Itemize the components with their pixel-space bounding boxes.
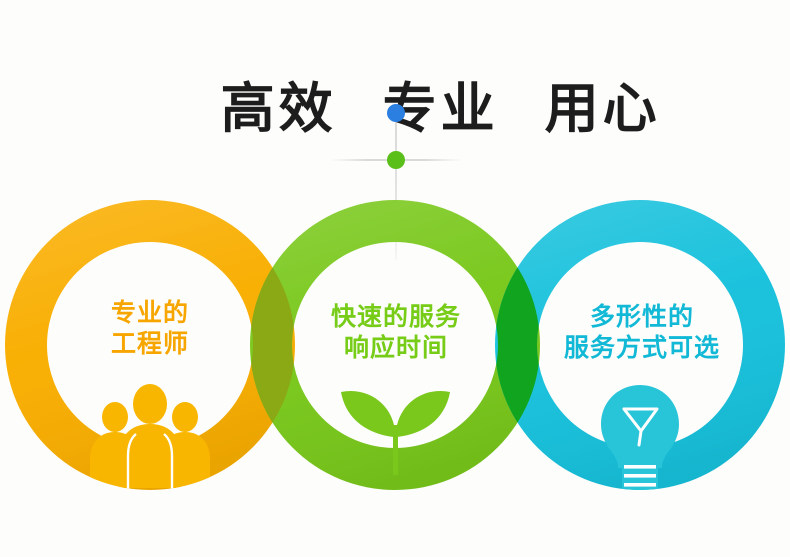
circle-label-service-modes: 多形性的 服务方式可选	[537, 302, 747, 363]
circle-label-engineers: 专业的 工程师	[55, 298, 245, 359]
poster-canvas: 高效专业用心	[0, 0, 790, 557]
circle-label-response: 快速的服务 响应时间	[296, 302, 496, 363]
venn-rings-group	[0, 0, 790, 557]
